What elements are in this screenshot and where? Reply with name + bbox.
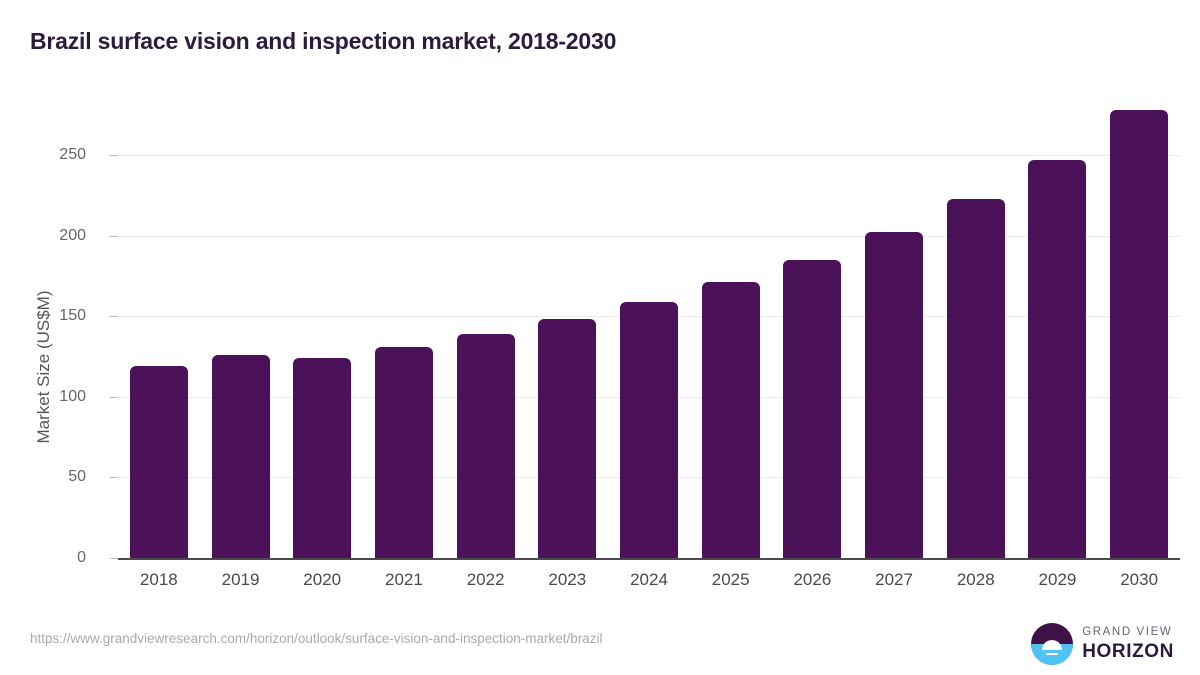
bar-2022[interactable] [457, 334, 515, 558]
y-tick-label: 200 [16, 227, 86, 245]
x-tick-label-2021: 2021 [385, 570, 423, 590]
y-tick-mark [110, 236, 118, 237]
bar-2020[interactable] [293, 358, 351, 558]
logo-wordmark: GRAND VIEW HORIZON [1082, 627, 1174, 661]
x-tick-label-2027: 2027 [875, 570, 913, 590]
bar-2030[interactable] [1110, 110, 1168, 558]
x-tick-label-2023: 2023 [548, 570, 586, 590]
y-tick-label: 250 [16, 146, 86, 164]
bar-2025[interactable] [702, 282, 760, 558]
logo-top-text: GRAND VIEW [1082, 627, 1174, 639]
x-tick-label-2030: 2030 [1120, 570, 1158, 590]
chart-plot-area: Market Size (US$M) 050100150200250 20182… [0, 0, 1200, 675]
bar-2018[interactable] [130, 366, 188, 558]
bar-2021[interactable] [375, 347, 433, 558]
source-url[interactable]: https://www.grandviewresearch.com/horizo… [30, 631, 603, 646]
y-tick-label: 150 [16, 307, 86, 325]
bar-2027[interactable] [865, 232, 923, 558]
horizon-sun-icon [1031, 623, 1073, 665]
y-tick-label: 100 [16, 388, 86, 406]
y-axis-title: Market Size (US$M) [34, 157, 54, 577]
bars-layer [118, 100, 1180, 558]
x-tick-label-2028: 2028 [957, 570, 995, 590]
bar-2026[interactable] [783, 260, 841, 558]
y-tick-mark [110, 316, 118, 317]
chart-page: Brazil surface vision and inspection mar… [0, 0, 1200, 675]
x-tick-label-2018: 2018 [140, 570, 178, 590]
y-tick-label: 0 [16, 549, 86, 567]
y-tick-label: 50 [16, 468, 86, 486]
logo-bottom-text: HORIZON [1082, 642, 1174, 661]
bar-2019[interactable] [212, 355, 270, 558]
y-tick-mark [110, 155, 118, 156]
grand-view-horizon-logo: GRAND VIEW HORIZON [1031, 622, 1174, 666]
x-tick-label-2020: 2020 [303, 570, 341, 590]
x-tick-label-2026: 2026 [793, 570, 831, 590]
x-tick-label-2022: 2022 [467, 570, 505, 590]
y-tick-mark [110, 558, 118, 559]
bar-2024[interactable] [620, 302, 678, 558]
x-tick-label-2019: 2019 [222, 570, 260, 590]
x-axis-baseline [118, 558, 1180, 560]
x-tick-label-2029: 2029 [1039, 570, 1077, 590]
x-tick-label-2024: 2024 [630, 570, 668, 590]
y-tick-mark [110, 397, 118, 398]
bar-2023[interactable] [538, 319, 596, 558]
bar-2029[interactable] [1028, 160, 1086, 558]
y-tick-mark [110, 477, 118, 478]
bar-2028[interactable] [947, 199, 1005, 558]
x-tick-label-2025: 2025 [712, 570, 750, 590]
